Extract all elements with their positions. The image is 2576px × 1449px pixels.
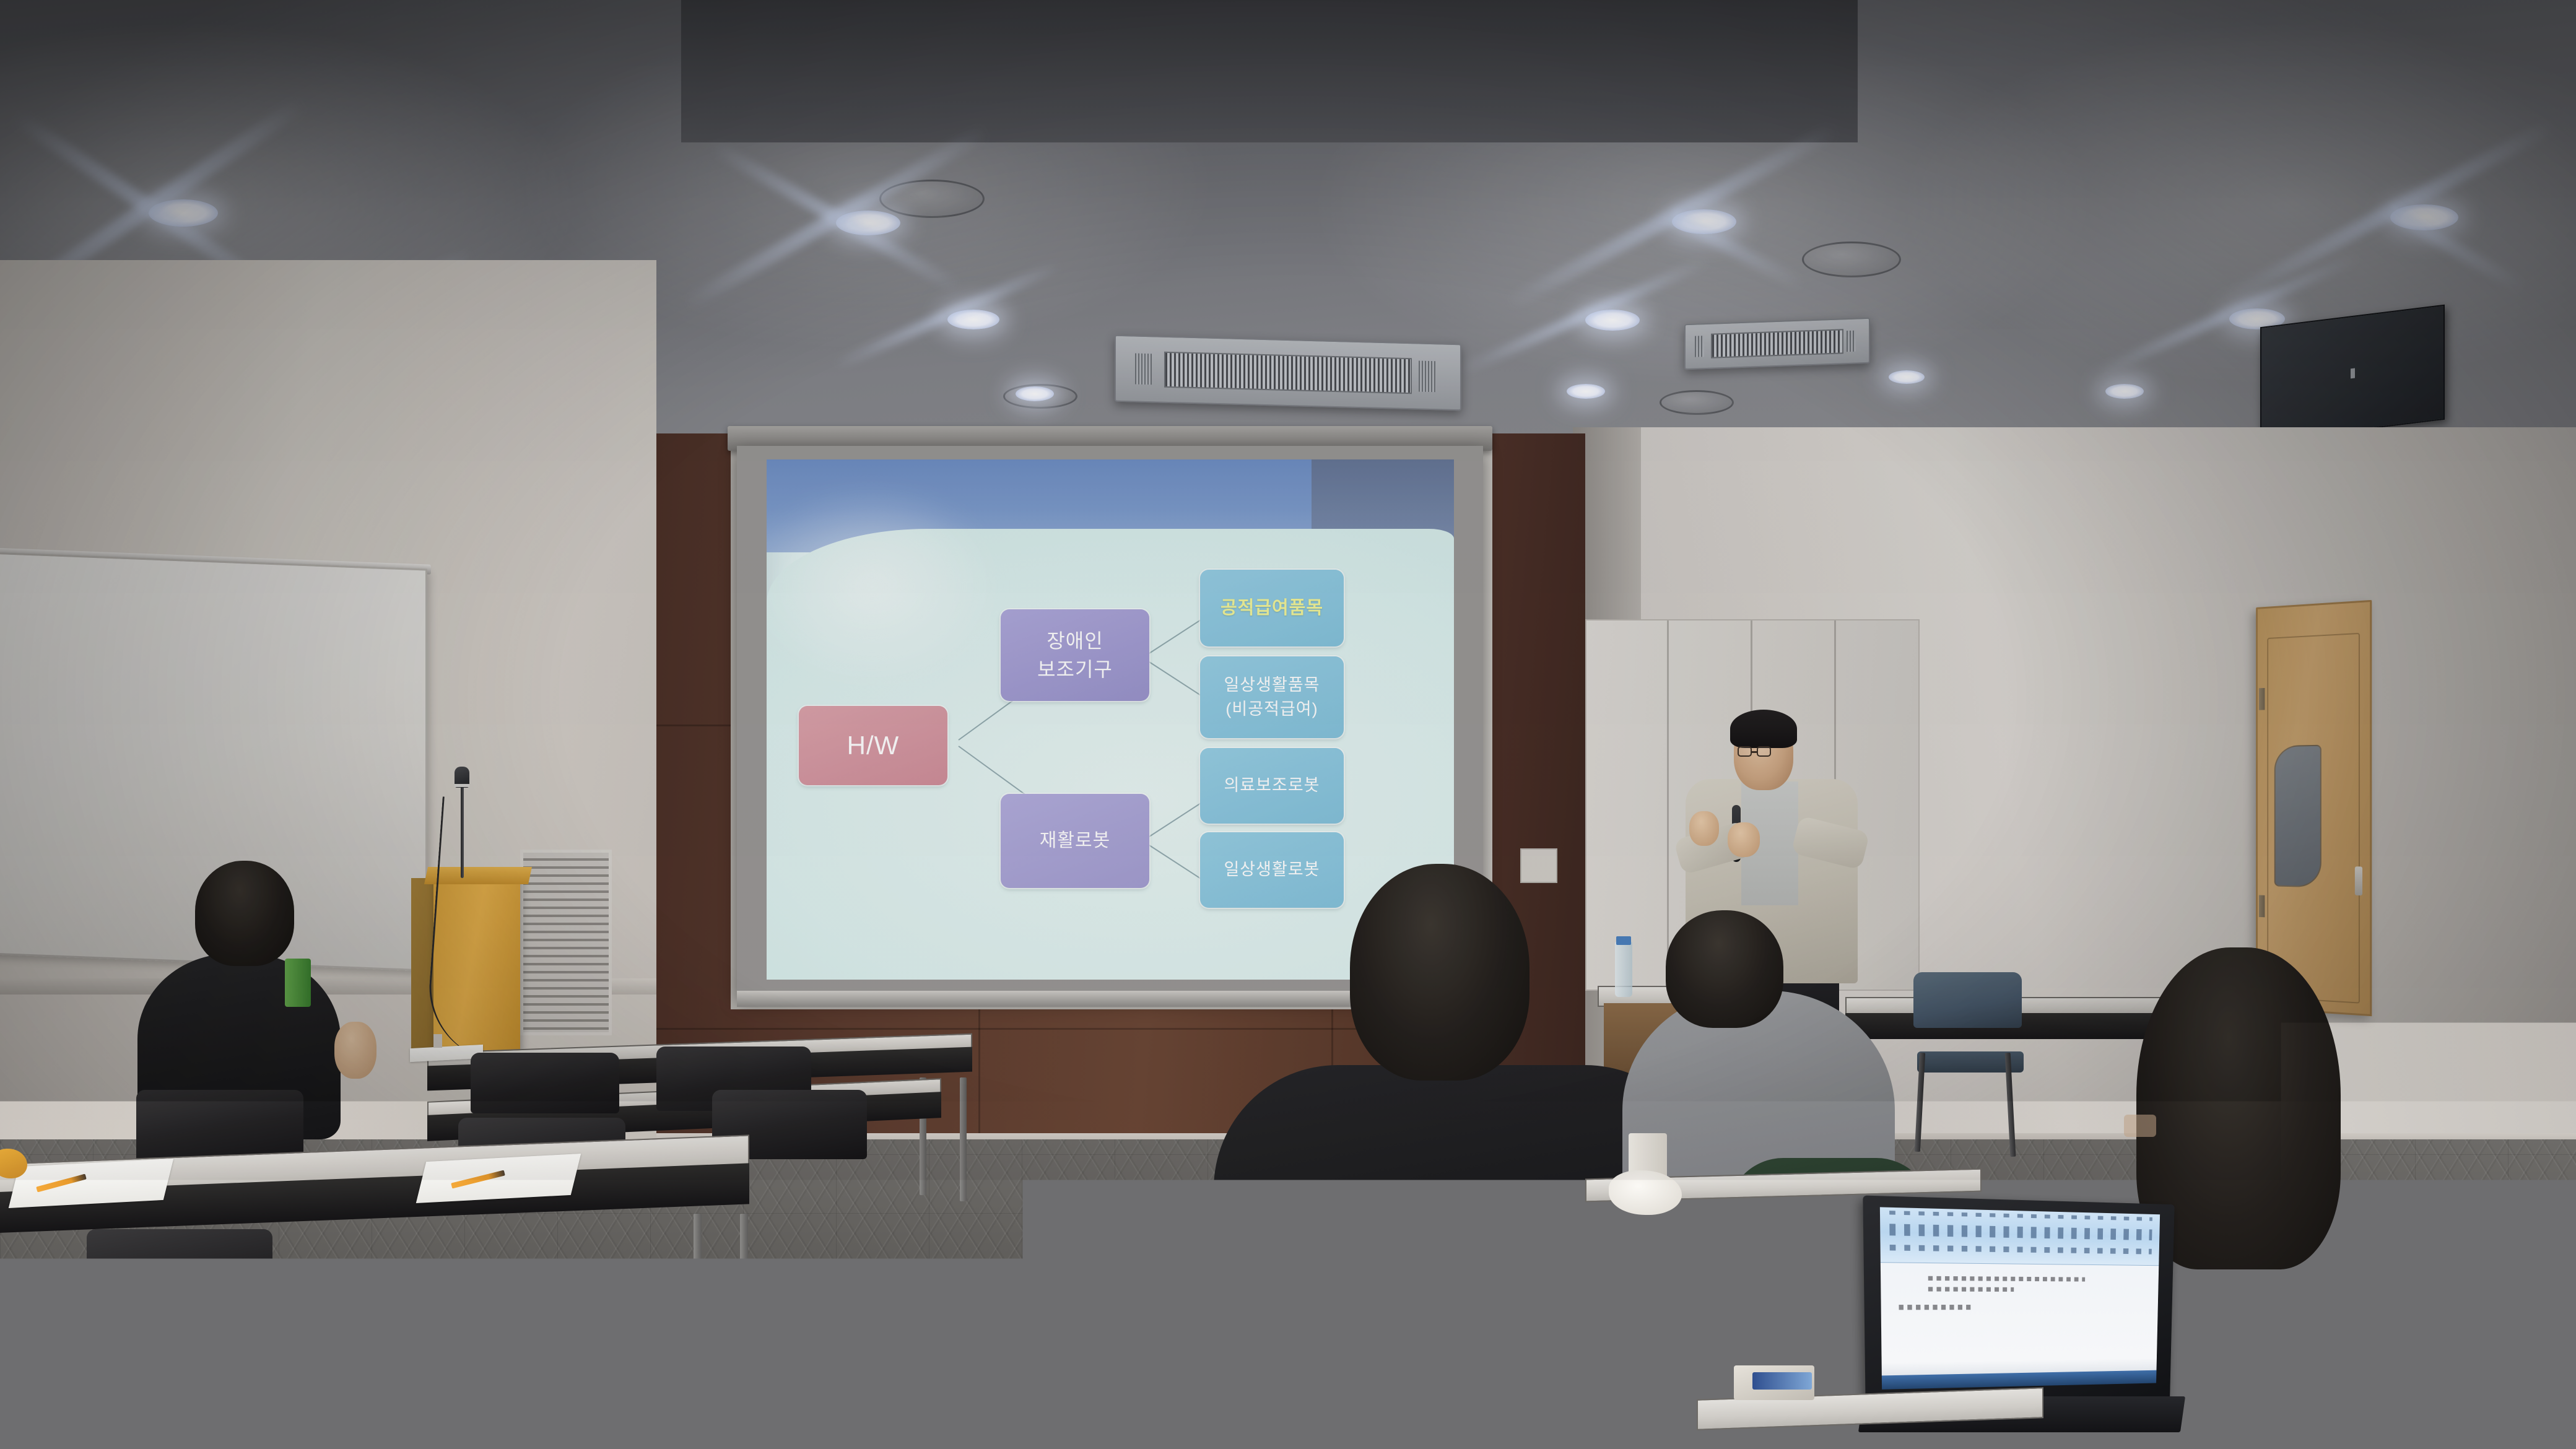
chair[interactable]	[136, 1090, 303, 1163]
hvac-ceiling-unit	[1115, 335, 1461, 411]
slide-node-leaf-4: 일상생활로봇	[1200, 832, 1344, 908]
laptop-screen[interactable]	[1880, 1207, 2160, 1390]
paper-sheet[interactable]	[9, 1159, 173, 1208]
os-taskbar[interactable]	[1882, 1370, 2157, 1390]
presenter-hand-left	[1689, 811, 1719, 846]
door-glass-panel	[2274, 745, 2321, 888]
ceiling-sprinkler-ring	[1660, 390, 1734, 415]
small-object	[433, 1034, 442, 1048]
document-text-line	[1928, 1287, 2014, 1292]
slide-node-branch-2-line1: 재활로봇	[1040, 827, 1110, 855]
glasses-icon	[1738, 746, 1790, 759]
slide-node-branch-1-line2: 보조기구	[1037, 655, 1113, 684]
slide-node-branch-1-line1: 장애인	[1046, 627, 1103, 655]
chair[interactable]	[1635, 1245, 1839, 1368]
attendee-front-left-hand	[334, 1022, 376, 1079]
slide-node-leaf-2-line1: 일상생활품목	[1224, 673, 1320, 697]
microphone-band	[455, 784, 469, 787]
wall-vent-grille	[520, 850, 612, 1035]
desk-leg	[694, 1214, 702, 1368]
door-handle[interactable]	[2355, 866, 2362, 895]
slide-node-root-label: H/W	[847, 727, 900, 765]
door-hinge	[2259, 895, 2265, 918]
wall-outlet-plate[interactable]	[1520, 848, 1557, 883]
attendee-military-police-head	[1350, 864, 1529, 1081]
water-bottle	[1615, 941, 1632, 997]
classroom-photo-scene: H/W 장애인 보조기구 재활로봇 공적급여품목 일상생활품목 (비공적급여) …	[0, 0, 2576, 1449]
wall-speaker-right	[2260, 305, 2445, 443]
slide-node-leaf-3-line1: 의료보조로봇	[1224, 773, 1320, 798]
box-label	[1752, 1372, 1812, 1390]
attendee-gray-shirt-head	[1666, 910, 1783, 1028]
door-hinge	[2259, 688, 2265, 710]
bottle-cap	[1616, 936, 1631, 945]
paper-sheet[interactable]	[416, 1154, 581, 1203]
microphone-stand	[461, 779, 464, 878]
ceiling-recess	[681, 0, 1858, 142]
slide-node-leaf-2: 일상생활품목 (비공적급여)	[1200, 656, 1344, 738]
attendee-yellow-shirt-ear	[2124, 1115, 2156, 1137]
projection-screen-surface: H/W 장애인 보조기구 재활로봇 공적급여품목 일상생활품목 (비공적급여) …	[767, 459, 1454, 980]
document-text-line	[1928, 1276, 2085, 1281]
slide-node-branch-2: 재활로봇	[1001, 794, 1149, 888]
green-water-bottle	[285, 959, 311, 1007]
slide-node-leaf-3: 의료보조로봇	[1200, 748, 1344, 824]
presenter-hair	[1730, 710, 1797, 748]
attendee-front-left-head	[195, 861, 294, 966]
desk-leg	[960, 1077, 967, 1201]
slide-node-root: H/W	[799, 706, 947, 785]
laptop-lid	[1863, 1195, 2174, 1409]
app-ribbon-toolbar[interactable]	[1880, 1207, 2160, 1266]
slide-node-branch-1: 장애인 보조기구	[1001, 609, 1149, 701]
chair-empty[interactable]	[1913, 972, 2022, 1028]
slide-node-leaf-4-line1: 일상생활로봇	[1224, 858, 1320, 882]
document-text-line	[1899, 1305, 1974, 1310]
slide: H/W 장애인 보조기구 재활로봇 공적급여품목 일상생활품목 (비공적급여) …	[767, 459, 1454, 980]
slide-node-leaf-1: 공적급여품목	[1200, 570, 1344, 646]
chair[interactable]	[471, 1053, 619, 1113]
chair[interactable]	[87, 1229, 272, 1322]
ceiling-vent-ring	[1802, 241, 1901, 277]
slide-node-leaf-1-line1: 공적급여품목	[1221, 595, 1323, 621]
hvac-ceiling-unit	[1684, 318, 1870, 370]
slide-glare	[767, 484, 1002, 689]
slide-node-leaf-2-line2: (비공적급여)	[1225, 697, 1318, 721]
presenter-hand-right	[1728, 822, 1760, 857]
laptop[interactable]	[1870, 1201, 2180, 1406]
desk-leg	[740, 1214, 748, 1381]
